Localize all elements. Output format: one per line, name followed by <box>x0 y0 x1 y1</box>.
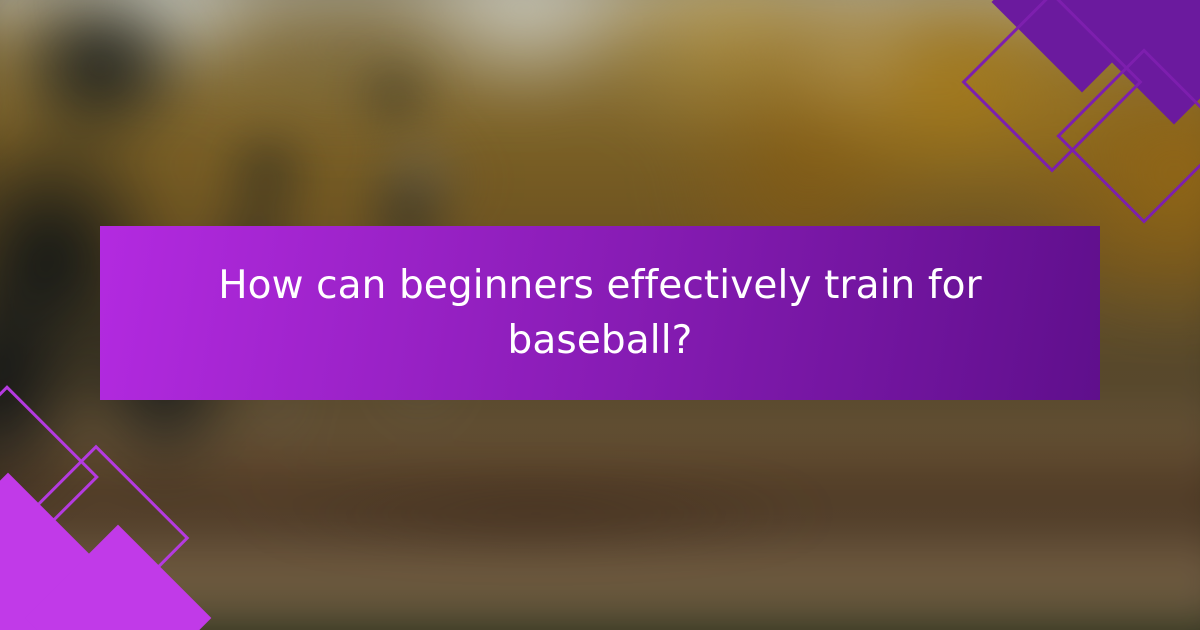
page-title: How can beginners effectively train for … <box>156 258 1044 369</box>
share-card: How can beginners effectively train for … <box>0 0 1200 630</box>
title-banner: How can beginners effectively train for … <box>100 226 1100 400</box>
